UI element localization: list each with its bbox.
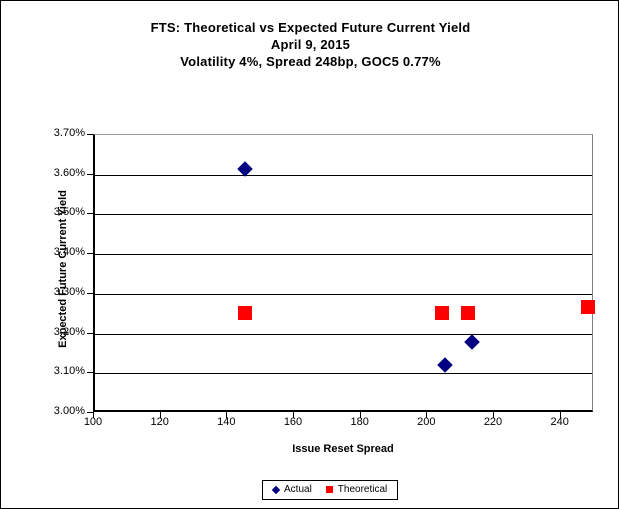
x-tick-mark: [360, 412, 361, 418]
chart-title: FTS: Theoretical vs Expected Future Curr…: [1, 19, 619, 36]
square-marker-icon: [326, 486, 333, 493]
gridline: [95, 294, 592, 295]
y-tick-label: 3.30%: [37, 286, 85, 298]
x-tick-mark: [93, 412, 94, 418]
diamond-marker-icon: [272, 485, 280, 493]
data-point-actual: [464, 334, 480, 350]
y-tick-label: 3.70%: [37, 127, 85, 139]
x-tick-mark: [493, 412, 494, 418]
data-point-actual: [437, 358, 453, 374]
chart-subtitle-secondary: Volatility 4%, Spread 248bp, GOC5 0.77%: [1, 53, 619, 70]
y-tick-label: 3.60%: [37, 167, 85, 179]
x-tick-mark: [560, 412, 561, 418]
data-point-theoretical: [461, 306, 475, 320]
x-tick-mark: [226, 412, 227, 418]
gridline: [95, 214, 592, 215]
chart-title-block: FTS: Theoretical vs Expected Future Curr…: [1, 19, 619, 70]
y-tick-label: 3.10%: [37, 365, 85, 377]
data-point-theoretical: [435, 306, 449, 320]
legend-label: Actual: [284, 484, 312, 495]
chart-legend: ActualTheoretical: [262, 480, 398, 500]
gridline: [95, 373, 592, 374]
y-tick-label: 3.40%: [37, 246, 85, 258]
y-tick-label: 3.20%: [37, 326, 85, 338]
data-point-theoretical: [581, 300, 595, 314]
x-tick-mark: [426, 412, 427, 418]
gridline: [95, 175, 592, 176]
y-tick-label: 3.50%: [37, 206, 85, 218]
data-point-theoretical: [238, 306, 252, 320]
legend-item-actual[interactable]: Actual: [273, 484, 312, 495]
chart-subtitle: April 9, 2015: [1, 36, 619, 53]
legend-item-theoretical[interactable]: Theoretical: [326, 484, 387, 495]
x-tick-mark: [293, 412, 294, 418]
plot-area: [93, 134, 593, 412]
legend-label: Theoretical: [338, 484, 387, 495]
x-tick-mark: [160, 412, 161, 418]
x-axis-title: Issue Reset Spread: [93, 443, 593, 455]
gridline: [95, 334, 592, 335]
chart-container: FTS: Theoretical vs Expected Future Curr…: [0, 0, 619, 509]
gridline: [95, 254, 592, 255]
